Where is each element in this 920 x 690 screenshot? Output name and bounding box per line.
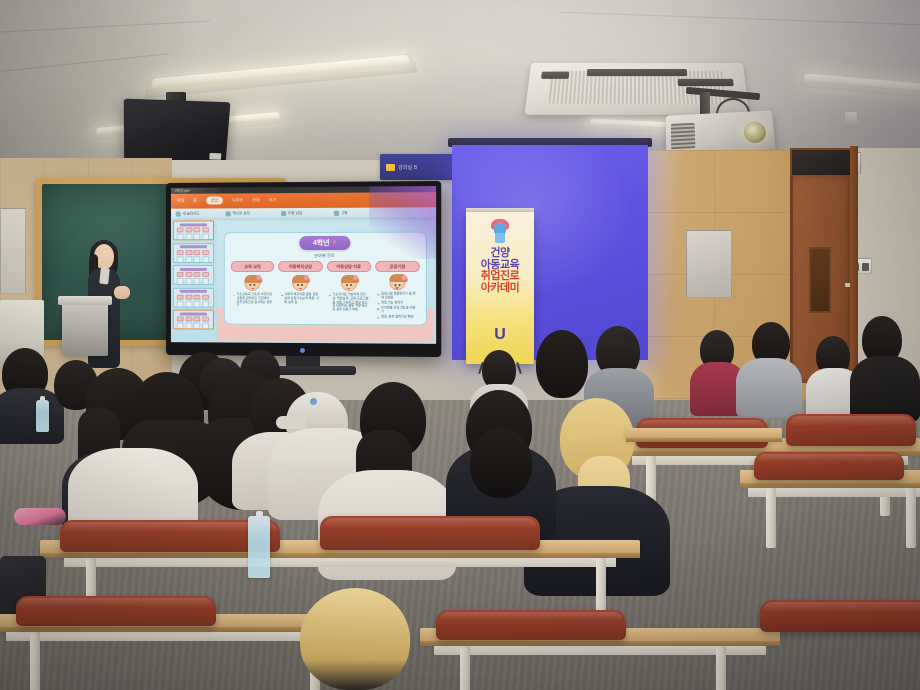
bullet-item: 공공시설 생활복지사 등 현재 진행중 [377,292,418,300]
slide-title-text: 4학년 [313,238,330,248]
classroom-scene: 강의실 B 건양 아동교육 취업진로 아카데미 U 4학년.pptx [0,0,920,690]
digital-sign-text: 강의실 B [398,164,417,171]
tab-transition[interactable]: 전환 [252,197,260,204]
cap-logo-icon [310,398,317,405]
heart-icon: ♥ [333,240,337,246]
column-4-header: 공공기관 [375,261,420,272]
student-face-icon [389,275,405,290]
ppt-workspace: 4학년 ♥ 분야별 진로 교육·교직 [171,218,436,343]
student-face-icon [292,275,308,291]
water-bottle [36,400,49,432]
tab-view[interactable]: 보기 [269,197,277,204]
water-bottle [248,516,270,578]
banner-line-4: 아카데미 [481,283,519,295]
slide-subtitle: 분야별 진로 [314,253,334,259]
bullet-item: 기초교육과 기초과 어린이집 교원을 길러내고 기관에서 의무교육으로 실시하는… [233,293,273,308]
textbox-icon [226,211,231,216]
slide-column-4: 공공기관 공공시설 생활복지사 등 현재 진행중 취업 가능 경력자 아이돌봄 … [375,261,420,320]
presenter-hands [114,286,130,299]
toolbar-shapes-label: 도형 삽입 [288,211,302,216]
slide-thumbnail-3[interactable] [173,265,214,285]
slide-thumbnail-1[interactable] [173,220,214,240]
slide-canvas[interactable]: 4학년 ♥ 분야별 진로 교육·교직 [217,220,434,341]
toolbar-shapes[interactable]: 도형 삽입 [281,211,302,216]
picture-icon [334,210,339,215]
new-slide-icon [176,211,181,216]
chair-back [754,452,904,480]
student-face-icon [341,275,357,291]
mascot-character-icon [489,219,511,245]
ppt-tab-bar[interactable]: 파일 홈 삽입 디자인 전환 보기 [177,197,277,205]
column-1-header: 교육·교직 [231,261,275,272]
toolbar-new-slide[interactable]: 새 슬라이드 [176,211,200,216]
wall-notice-board [686,230,732,298]
tab-design[interactable]: 디자인 [232,197,243,204]
column-3-header: 아동상담·치료 [326,261,370,272]
banner-line-1: 건양 [490,248,509,260]
slide-title-badge: 4학년 ♥ [299,236,350,250]
chair-back [320,516,540,550]
display-power-led [300,348,305,353]
bullet-item: 행정, 복무 협력기관 확대 [377,316,418,320]
chair-back [436,610,626,640]
slide-columns: 교육·교직 기초교육과 기초과 어린이집 교원을 길러내고 기관에서 의무교육으… [231,261,420,320]
bullet-item: 기초지식은 기본이며 인지성, 학습능력, 교육 프로그램 등 실습 가능하고 … [328,293,368,312]
shapes-icon [281,211,286,216]
slide-thumbnail-5[interactable] [173,310,214,330]
tab-home[interactable]: 홈 [193,198,197,205]
presenter-collar [99,268,110,285]
slide-thumbnail-4[interactable] [173,287,214,307]
chair-back [16,596,216,626]
slide-column-3: 아동상담·치료 기초지식은 기본이며 인지성, 학습능력, 교육 프로그램 등 … [326,261,370,319]
lectern [62,300,108,356]
tab-insert[interactable]: 삽입 [206,197,223,205]
banner-logo: U [494,326,506,344]
column-1-bullets: 기초교육과 기초과 어린이집 교원을 길러내고 기관에서 의무교육으로 실시하는… [231,293,275,308]
column-2-header: 아동복지상담 [278,261,322,272]
door-jamb [850,146,858,386]
student-face-icon [245,275,261,291]
chair-back [60,520,280,552]
room-digital-sign: 강의실 B [380,154,454,180]
academy-banner: 건양 아동교육 취업진로 아카데미 U [466,212,534,364]
toolbar-picture-label: 그림 [341,210,348,215]
tab-file[interactable]: 파일 [177,198,185,205]
ppt-ribbon[interactable]: 파일 홈 삽입 디자인 전환 보기 [171,192,436,209]
lectern-top [58,296,112,305]
toolbar-textbox-label: 텍스트 상자 [233,211,250,216]
presentation-display[interactable]: 4학년.pptx 파일 홈 삽입 디자인 전환 보기 새 슬라이드 [166,181,441,357]
wall-paper-sheet [0,208,26,294]
slide-column-1: 교육·교직 기초교육과 기초과 어린이집 교원을 길러내고 기관에서 의무교육으… [231,261,275,319]
toolbar-textbox[interactable]: 텍스트 상자 [226,211,250,216]
slide-column-2: 아동복지상담 사회적 복지지원 활동 전문성과 상담기초능력 확립, 사회 실무… [278,261,322,319]
chair-back [760,600,920,632]
bullet-item: 사회적 복지지원 활동 전문성과 상담기초능력 확립, 사회 실무 등 [280,293,320,304]
slide-thumbnail-panel[interactable] [173,220,214,341]
column-4-bullets: 공공시설 생활복지사 등 현재 진행중 취업 가능 경력자 아이돌봄 프로그램 … [375,292,420,319]
door-transom-window [790,148,852,178]
toolbar-new-slide-label: 새 슬라이드 [183,211,200,216]
bullet-item: 아이돌봄 프로그램 등 지원가 [377,307,418,315]
slide-thumbnail-2[interactable] [173,243,214,263]
chair-back [786,414,916,446]
column-3-bullets: 기초지식은 기본이며 인지성, 학습능력, 교육 프로그램 등 실습 가능하고 … [326,293,370,312]
slide-content-card: 4학년 ♥ 분야별 진로 교육·교직 [224,232,427,326]
pink-accessory [14,508,66,525]
cap-brim-icon [276,416,306,429]
presenter-face [99,250,113,269]
toolbar-picture[interactable]: 그림 [334,210,348,215]
display-screen[interactable]: 4학년.pptx 파일 홈 삽입 디자인 전환 보기 새 슬라이드 [171,186,436,344]
column-2-bullets: 사회적 복지지원 활동 전문성과 상담기초능력 확립, 사회 실무 등 [278,293,322,304]
display-chip-icon [386,164,395,171]
